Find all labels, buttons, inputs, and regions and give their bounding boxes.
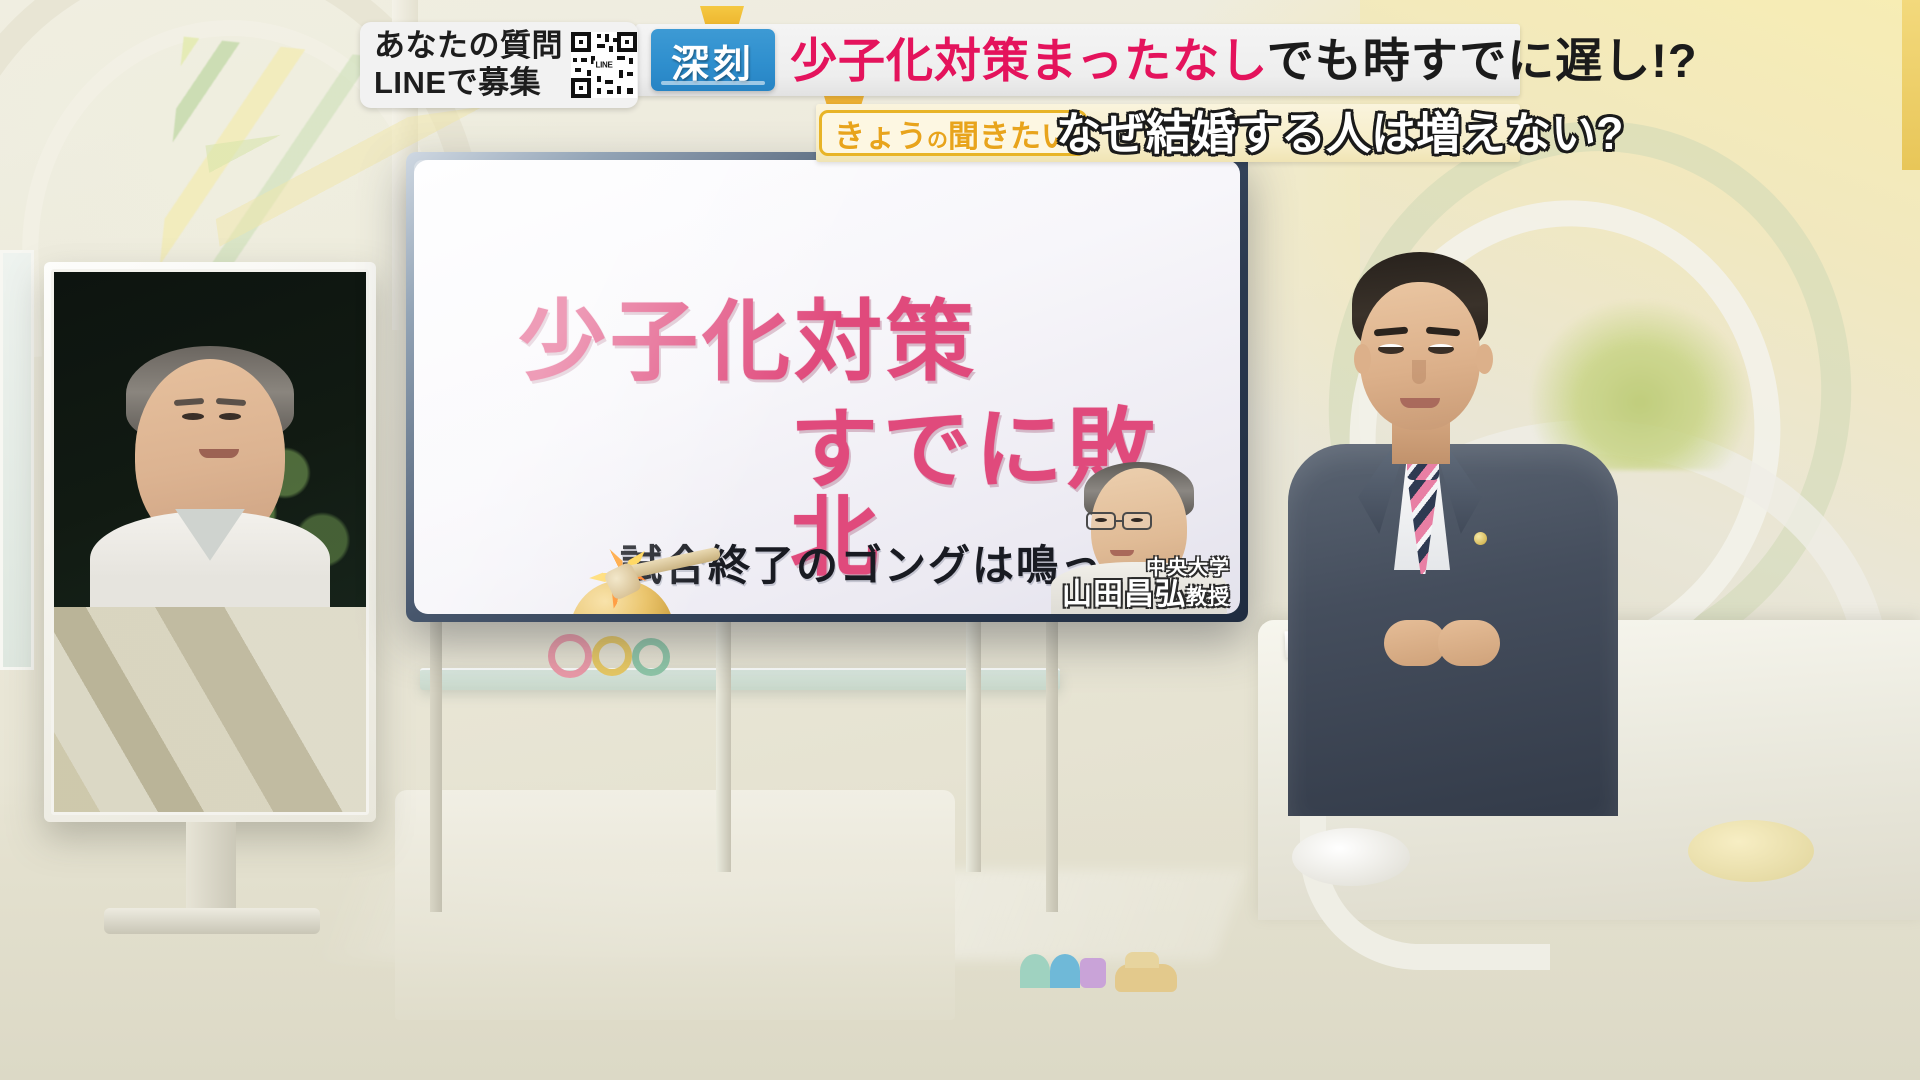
monitor-stand-base	[104, 908, 320, 934]
badge-serious-label: 深刻	[671, 33, 755, 88]
guest-monitor-screen	[51, 269, 369, 815]
studio-ring-green	[632, 638, 670, 676]
board-post-right	[966, 622, 981, 872]
line-promo-box[interactable]: あなたの質問 LINEで募集 LI	[360, 22, 638, 108]
headline-primary: 少子化対策まったなしでも時すでに遅し!?	[790, 30, 1698, 92]
line-promo-line1: あなたの質問	[374, 28, 563, 65]
anchor-ear-left	[1354, 344, 1371, 374]
studio-panel-left	[0, 250, 34, 670]
anchor-eye-right	[1428, 344, 1454, 354]
professor-university: 中央大学	[1062, 558, 1230, 579]
headline-primary-dark: でも時すでに遅し!?	[1267, 34, 1698, 87]
professor-eye-right	[1131, 518, 1143, 522]
headline-primary-red: 少子化対策まったなし	[790, 34, 1267, 87]
studio-toy-arch-2	[1050, 954, 1080, 988]
badge-today-question: きょうの聞きたい	[819, 110, 1087, 156]
monitor-lower-pattern	[54, 607, 366, 812]
qr-code-label: LINE	[593, 61, 614, 70]
studio-prop-table	[395, 790, 955, 1020]
professor-honorific: 教授	[1186, 586, 1230, 609]
board-post-left	[716, 622, 731, 872]
studio-ring-pink	[548, 634, 592, 678]
studio-ring-yellow	[592, 636, 632, 676]
display-board-screen: 少子化対策 すでに敗北 試合終了のゴングは鳴った…	[414, 160, 1240, 614]
badge-today-label: きょうの聞きたい	[834, 111, 1072, 156]
badge-today-prefix: きょう	[834, 119, 927, 154]
professor-fullname: 山田昌弘教授	[1062, 579, 1230, 611]
broadcast-screenshot: 少子化対策 すでに敗北 試合終了のゴングは鳴った…	[0, 0, 1920, 1080]
anchor-hand-left	[1384, 620, 1446, 666]
studio-toy-car	[1115, 964, 1177, 992]
badge-today-suffix: 聞きたい	[948, 119, 1072, 154]
professor-glasses-bridge	[1116, 520, 1124, 522]
badge-serious: 深刻	[651, 29, 775, 91]
screen-right-edge-decor	[1902, 0, 1920, 170]
desk-decor-plate-right	[1688, 820, 1814, 882]
display-board-frame: 少子化対策 すでに敗北 試合終了のゴングは鳴った…	[406, 152, 1248, 622]
badge-today-mid: の	[927, 129, 948, 152]
anchor-hand-right	[1438, 620, 1500, 666]
board-title-line1: 少子化対策	[518, 300, 978, 388]
qr-code-icon[interactable]: LINE	[571, 32, 637, 98]
shelf-post-right	[1046, 612, 1058, 912]
news-anchor	[1288, 252, 1618, 812]
guest-monitor	[44, 262, 376, 822]
guest-video-feed	[54, 272, 366, 607]
studio-toy-block	[1080, 958, 1106, 988]
guest-mouth	[199, 449, 239, 458]
shelf-post-left	[430, 612, 442, 912]
studio-glass-shelf	[420, 668, 1060, 690]
anchor-eye-left	[1378, 344, 1404, 354]
line-promo-line2: LINEで募集	[374, 65, 563, 102]
monitor-stand-neck	[186, 822, 236, 914]
guest-eye-left	[182, 413, 204, 420]
anchor-ear-right	[1476, 344, 1493, 374]
professor-mouth	[1110, 550, 1134, 556]
studio-toy-arch-1	[1020, 954, 1050, 988]
professor-name-text: 山田昌弘	[1062, 578, 1186, 611]
professor-eye-left	[1095, 518, 1107, 522]
anchor-lapel-pin	[1474, 532, 1487, 545]
gong-mallet-stick	[625, 547, 722, 580]
line-promo-text: あなたの質問 LINEで募集	[374, 28, 563, 101]
desk-decor-plate-left	[1292, 828, 1410, 886]
professor-name-label: 中央大学 山田昌弘教授	[1062, 558, 1230, 611]
headline-secondary: なぜ結婚する人は増えない?	[1056, 108, 1624, 160]
anchor-nose	[1412, 360, 1426, 384]
anchor-mouth	[1400, 398, 1440, 408]
gong-illustration	[552, 540, 702, 614]
guest-eye-right	[219, 413, 241, 420]
